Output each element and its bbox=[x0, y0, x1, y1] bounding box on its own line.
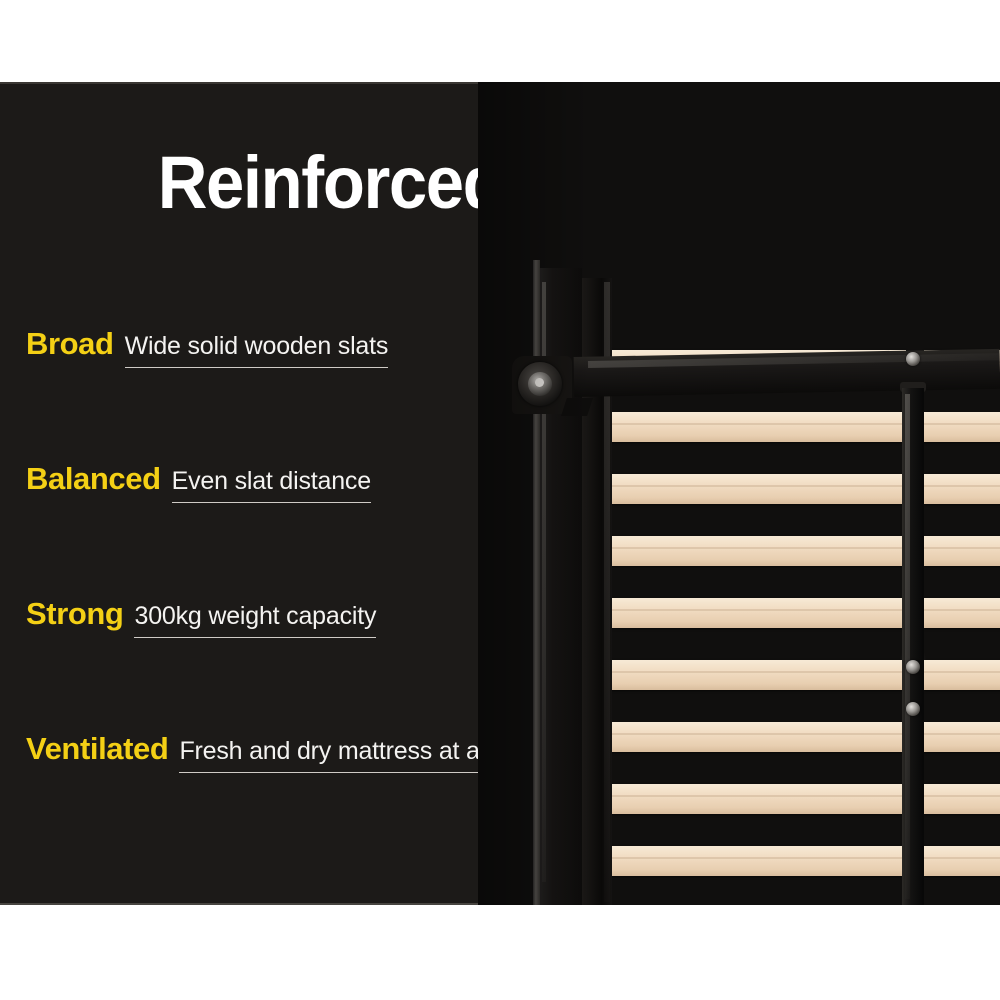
wooden-slat bbox=[596, 536, 906, 566]
wooden-slat bbox=[924, 784, 1000, 814]
wooden-slat bbox=[924, 474, 1000, 504]
wooden-slat bbox=[596, 846, 906, 876]
slat-grain bbox=[596, 485, 906, 487]
feature-desc-underline: 300kg weight capacity bbox=[134, 602, 376, 638]
slat-grain bbox=[596, 547, 906, 549]
corner-bolt-head-icon bbox=[535, 378, 544, 387]
feature-key-label: Ventilated bbox=[26, 732, 168, 766]
slat-grain bbox=[924, 671, 1000, 673]
wooden-slat bbox=[596, 722, 906, 752]
wooden-slat bbox=[924, 660, 1000, 690]
slat-grain bbox=[596, 857, 906, 859]
slat-grain bbox=[596, 671, 906, 673]
slat-grain bbox=[596, 733, 906, 735]
slat-grain bbox=[924, 609, 1000, 611]
wooden-slat bbox=[924, 598, 1000, 628]
wooden-slat bbox=[596, 598, 906, 628]
feature-key-label: Broad bbox=[26, 327, 114, 361]
wooden-slat bbox=[924, 412, 1000, 442]
image-canvas: Reinforced thick slats Broad Wide solid … bbox=[0, 0, 1000, 1000]
feature-key-label: Balanced bbox=[26, 462, 161, 496]
slat-grain bbox=[924, 485, 1000, 487]
screw-icon bbox=[906, 352, 920, 366]
wooden-slat bbox=[924, 846, 1000, 876]
feature-desc-underline: Wide solid wooden slats bbox=[125, 332, 389, 368]
slat-grain bbox=[596, 423, 906, 425]
slat-grain bbox=[924, 423, 1000, 425]
screw-icon bbox=[906, 702, 920, 716]
product-photo-bed-slats bbox=[478, 82, 1000, 905]
slat-grain bbox=[924, 857, 1000, 859]
wooden-slat bbox=[924, 536, 1000, 566]
screw-icon bbox=[906, 660, 920, 674]
slat-grain bbox=[924, 733, 1000, 735]
centre-support-highlight bbox=[905, 394, 910, 899]
feature-panel: Reinforced thick slats Broad Wide solid … bbox=[0, 82, 1000, 905]
wooden-slat bbox=[596, 412, 906, 442]
feature-desc-label: Wide solid wooden slats bbox=[125, 332, 389, 360]
feature-key-label: Strong bbox=[26, 597, 123, 631]
wooden-slat bbox=[596, 474, 906, 504]
slat-grain bbox=[924, 795, 1000, 797]
slat-grain bbox=[596, 609, 906, 611]
slat-grain bbox=[596, 795, 906, 797]
feature-desc-label: Even slat distance bbox=[172, 467, 371, 495]
wooden-slat bbox=[596, 660, 906, 690]
feature-desc-underline: Even slat distance bbox=[172, 467, 371, 503]
wooden-slat bbox=[596, 784, 906, 814]
wooden-slat bbox=[924, 722, 1000, 752]
feature-desc-label: 300kg weight capacity bbox=[134, 602, 376, 630]
slat-grain bbox=[924, 547, 1000, 549]
